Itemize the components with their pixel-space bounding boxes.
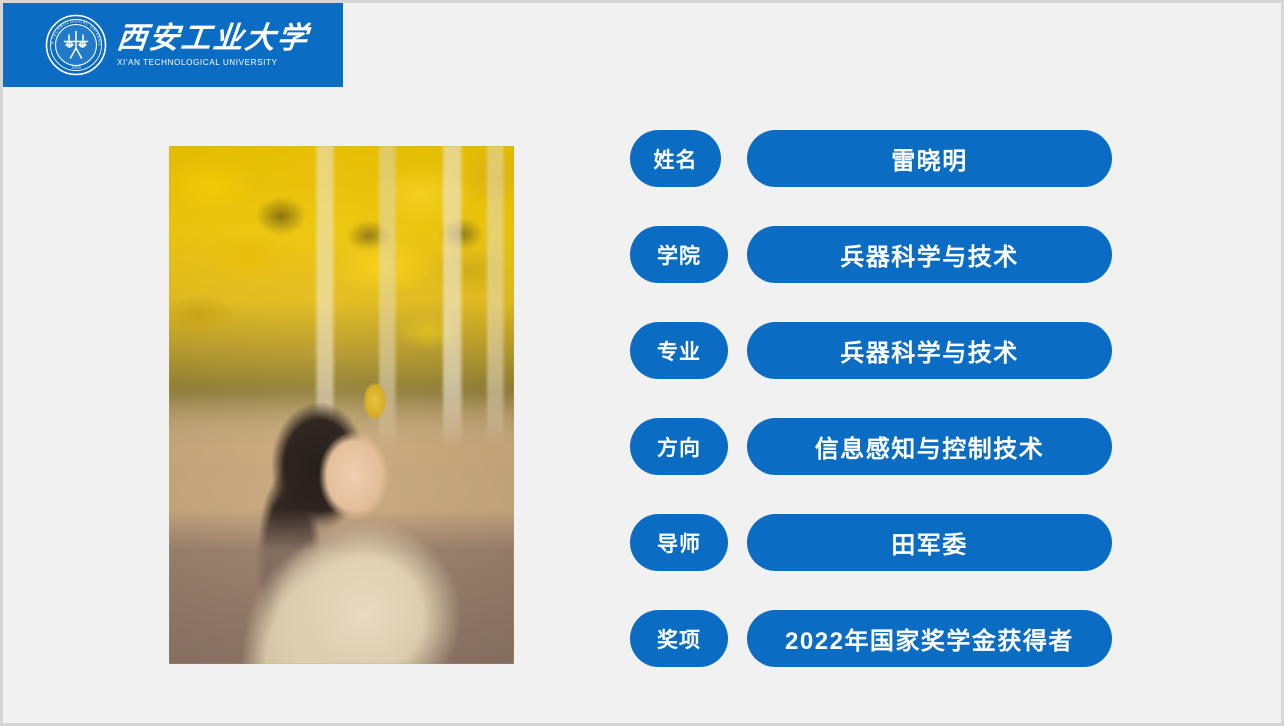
- info-value-major: 兵器科学与技术: [747, 322, 1112, 379]
- brand-text-block: 西安工业大学 XI'AN TECHNOLOGICAL UNIVERSITY: [117, 22, 309, 68]
- university-seal-icon: 1955 XI'AN TECHNOLOGICAL UNIVERSITY: [45, 14, 107, 76]
- info-row-direction: 方向 信息感知与控制技术: [630, 418, 1112, 475]
- student-photo-image: [169, 146, 514, 664]
- info-value-award: 2022年国家奖学金获得者: [747, 610, 1112, 667]
- brand-name-chinese: 西安工业大学: [115, 22, 310, 55]
- info-label-supervisor: 导师: [630, 514, 728, 571]
- student-photo: [169, 146, 514, 664]
- university-brand-bar: 1955 XI'AN TECHNOLOGICAL UNIVERSITY 西安工业…: [3, 3, 343, 87]
- info-value-college: 兵器科学与技术: [747, 226, 1112, 283]
- info-label-college: 学院: [630, 226, 728, 283]
- info-row-college: 学院 兵器科学与技术: [630, 226, 1112, 283]
- student-info-list: 姓名 雷晓明 学院 兵器科学与技术 专业 兵器科学与技术 方向 信息感知与控制技…: [630, 130, 1112, 667]
- info-value-supervisor: 田军委: [747, 514, 1112, 571]
- svg-text:1955: 1955: [71, 65, 81, 70]
- info-row-major: 专业 兵器科学与技术: [630, 322, 1112, 379]
- info-row-supervisor: 导师 田军委: [630, 514, 1112, 571]
- slide-page: 1955 XI'AN TECHNOLOGICAL UNIVERSITY 西安工业…: [0, 0, 1284, 726]
- brand-name-english: XI'AN TECHNOLOGICAL UNIVERSITY: [117, 58, 309, 68]
- info-row-award: 奖项 2022年国家奖学金获得者: [630, 610, 1112, 667]
- info-label-name: 姓名: [630, 130, 721, 187]
- info-label-major: 专业: [630, 322, 728, 379]
- info-label-direction: 方向: [630, 418, 728, 475]
- info-value-name: 雷晓明: [747, 130, 1112, 187]
- info-label-award: 奖项: [630, 610, 728, 667]
- info-row-name: 姓名 雷晓明: [630, 130, 1112, 187]
- info-value-direction: 信息感知与控制技术: [747, 418, 1112, 475]
